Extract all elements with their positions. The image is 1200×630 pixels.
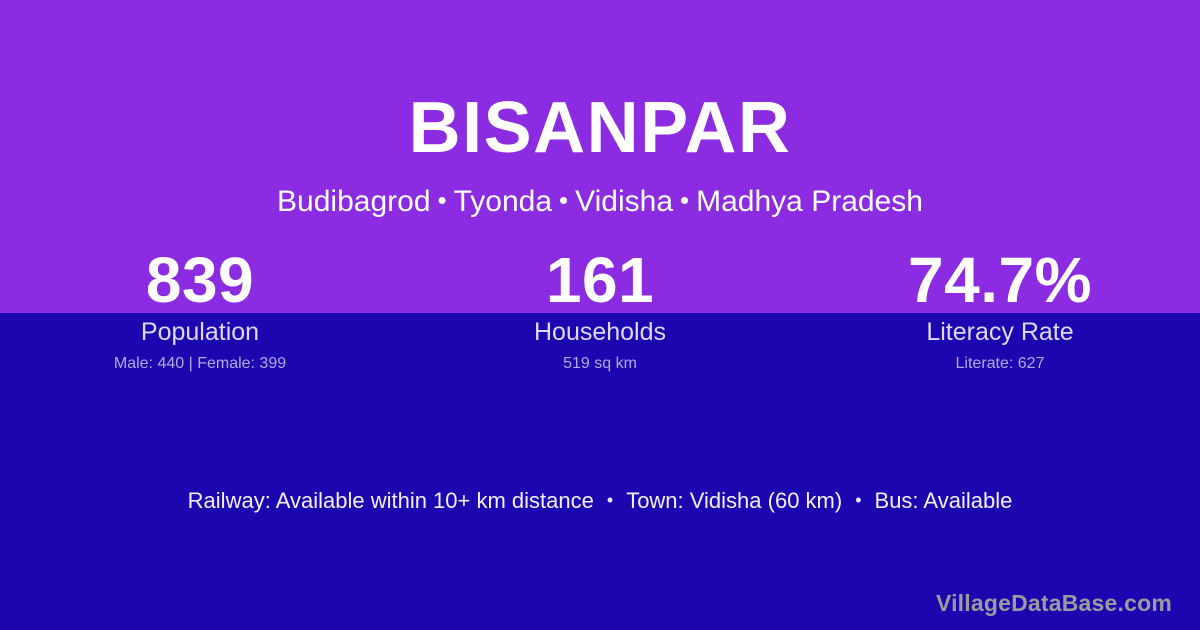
stat-sublabel: Male: 440 | Female: 399 (0, 354, 400, 374)
stat-sublabel: 519 sq km (400, 354, 800, 374)
stat-value: 74.7% (800, 246, 1200, 314)
village-info-card: BISANPAR Budibagrod•Tyonda•Vidisha•Madhy… (0, 0, 1200, 630)
breadcrumb-part-state: Madhya Pradesh (696, 185, 923, 218)
bullet-separator-icon: • (552, 185, 575, 215)
stat-label: Population (0, 317, 400, 347)
bullet-separator-icon: • (431, 185, 454, 215)
breadcrumb-part-panchayat: Budibagrod (277, 185, 430, 218)
breadcrumb: Budibagrod•Tyonda•Vidisha•Madhya Pradesh (0, 182, 1200, 220)
bullet-separator-icon: • (594, 490, 626, 510)
site-watermark: VillageDataBase.com (936, 588, 1172, 618)
info-item-town: Town: Vidisha (60 km) (626, 488, 842, 513)
bullet-separator-icon: • (842, 490, 874, 510)
stat-value: 161 (400, 246, 800, 314)
info-item-railway: Railway: Available within 10+ km distanc… (188, 488, 594, 513)
stat-label: Households (400, 317, 800, 347)
breadcrumb-part-district: Vidisha (575, 185, 673, 218)
stats-row: 839 Population Male: 440 | Female: 399 1… (0, 246, 1200, 374)
stat-label: Literacy Rate (800, 317, 1200, 347)
connectivity-info-line: Railway: Available within 10+ km distanc… (0, 485, 1200, 516)
stat-sublabel: Literate: 627 (800, 354, 1200, 374)
stat-population: 839 Population Male: 440 | Female: 399 (0, 246, 400, 374)
page-title: BISANPAR (0, 86, 1200, 170)
stat-households: 161 Households 519 sq km (400, 246, 800, 374)
stat-value: 839 (0, 246, 400, 314)
info-item-bus: Bus: Available (875, 488, 1013, 513)
breadcrumb-part-block: Tyonda (454, 185, 552, 218)
stat-literacy-rate: 74.7% Literacy Rate Literate: 627 (800, 246, 1200, 374)
card-content: BISANPAR Budibagrod•Tyonda•Vidisha•Madhy… (0, 0, 1200, 630)
bullet-separator-icon: • (673, 185, 696, 215)
